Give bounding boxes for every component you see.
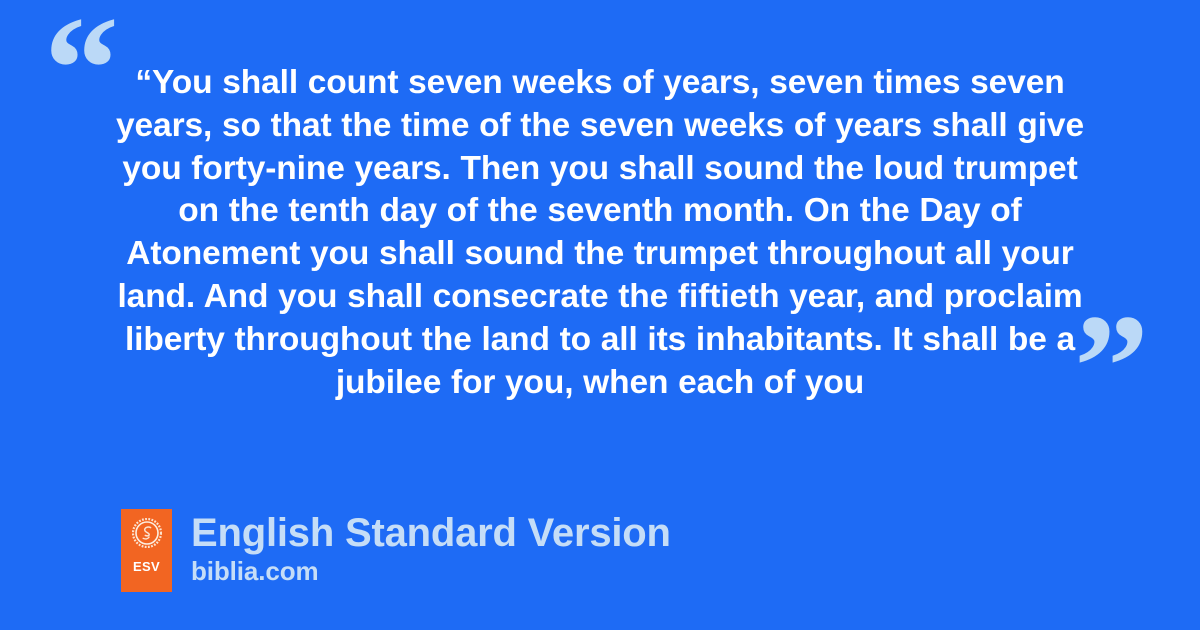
site-url-label: biblia.com: [191, 556, 671, 586]
opening-quote-icon: “: [44, 0, 117, 144]
quote-block: “You shall count seven weeks of years, s…: [110, 62, 1090, 404]
attribution-footer: ESV English Standard Version biblia.com: [121, 509, 671, 592]
quote-card: “ “You shall count seven weeks of years,…: [0, 0, 1200, 630]
esv-logo-tile: ESV: [121, 509, 172, 592]
esv-seal-icon: [132, 518, 162, 548]
attribution-text: English Standard Version biblia.com: [191, 509, 671, 592]
esv-abbreviation-label: ESV: [133, 560, 160, 573]
closing-quote-icon: ”: [1074, 292, 1147, 442]
quote-text: “You shall count seven weeks of years, s…: [110, 62, 1090, 404]
bible-version-name: English Standard Version: [191, 510, 671, 556]
